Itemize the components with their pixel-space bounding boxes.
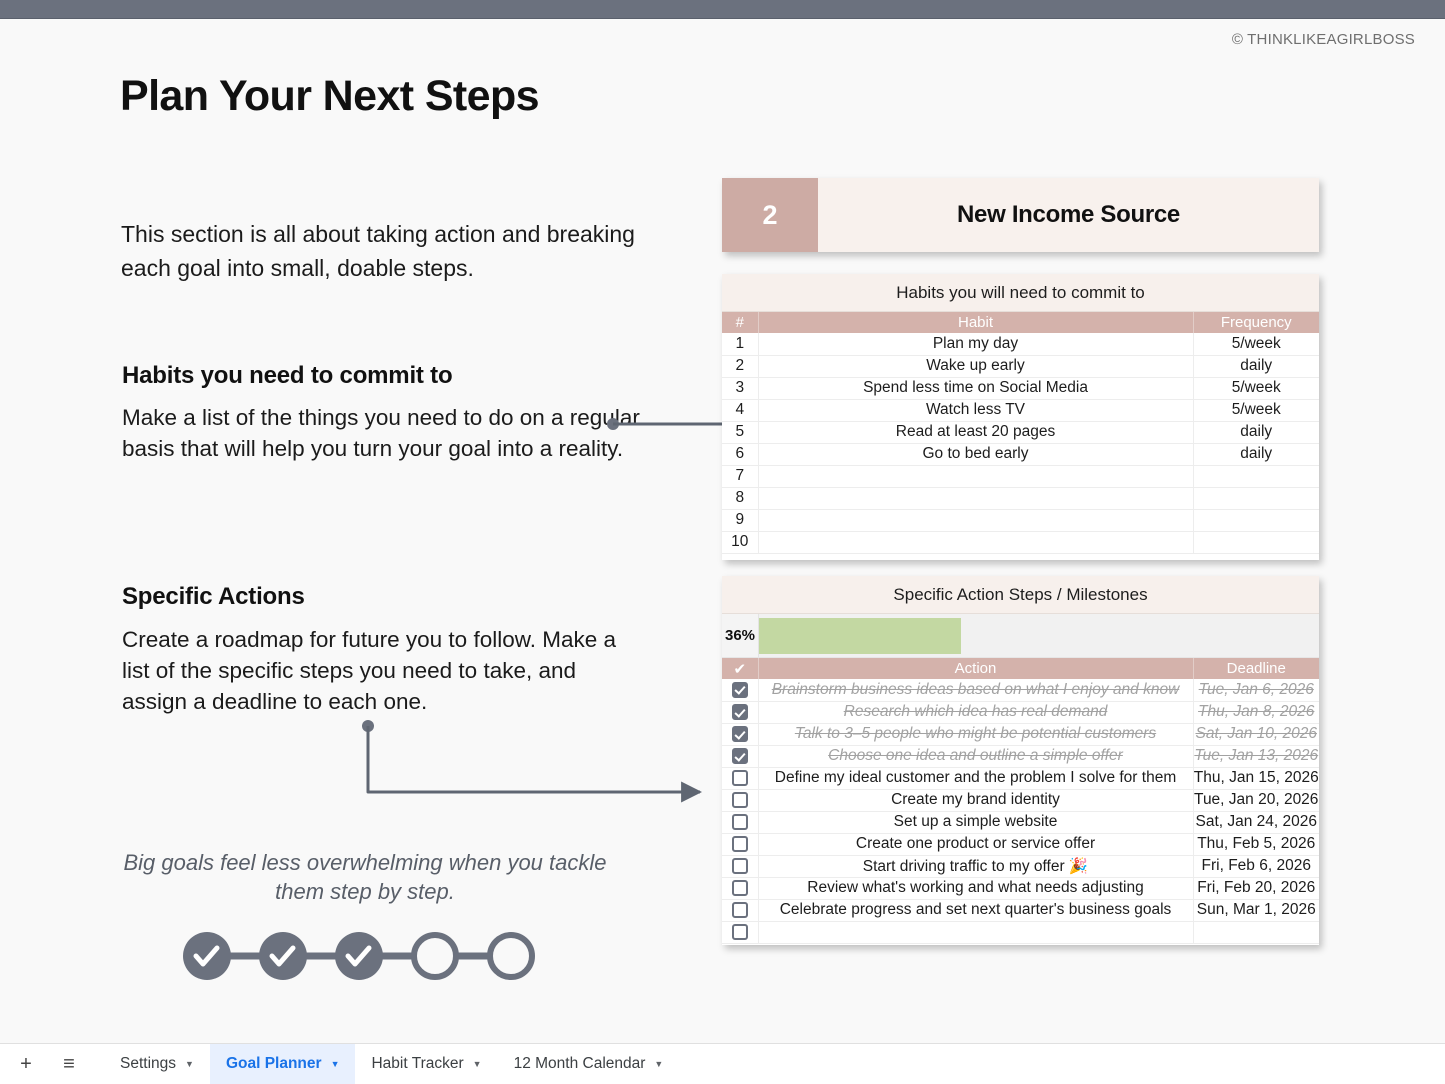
all-sheets-menu-icon[interactable]: ≡ [52, 1047, 86, 1081]
action-checkbox-cell[interactable] [722, 877, 758, 899]
habits-col-number[interactable]: # [722, 312, 758, 333]
actions-header-row: ✔ Action Deadline [722, 658, 1319, 679]
habits-col-habit[interactable]: Habit [758, 312, 1193, 333]
habit-frequency[interactable]: 5/week [1193, 399, 1319, 421]
action-row[interactable]: Start driving traffic to my offer 🎉Fri, … [722, 855, 1319, 877]
actions-panel: Specific Action Steps / Milestones 36% ✔… [722, 576, 1319, 945]
habits-header-row: # Habit Frequency [722, 312, 1319, 333]
habits-row[interactable]: 1Plan my day5/week [722, 333, 1319, 355]
habit-frequency[interactable]: 5/week [1193, 377, 1319, 399]
action-row[interactable]: Research which idea has real demandThu, … [722, 701, 1319, 723]
sheet-tab-label: Settings [120, 1055, 176, 1073]
intro-paragraph: This section is all about taking action … [121, 217, 666, 285]
sheet-tab-habit-tracker[interactable]: Habit Tracker▼ [355, 1044, 497, 1084]
action-text[interactable] [758, 921, 1193, 943]
progress-row: 36% [722, 614, 1319, 658]
action-deadline[interactable]: Tue, Jan 20, 2026 [1193, 789, 1319, 811]
action-checkbox[interactable] [732, 726, 748, 742]
action-deadline[interactable]: Tue, Jan 6, 2026 [1193, 679, 1319, 701]
sheet-tab-bar: + ≡ Settings▼Goal Planner▼Habit Tracker▼… [0, 1043, 1445, 1084]
habit-frequency[interactable] [1193, 509, 1319, 531]
stepper-node-2 [259, 932, 307, 980]
motivational-quote: Big goals feel less overwhelming when yo… [120, 848, 610, 906]
progress-fill [759, 618, 961, 654]
action-row[interactable]: Celebrate progress and set next quarter'… [722, 899, 1319, 921]
action-deadline[interactable]: Fri, Feb 6, 2026 [1193, 855, 1319, 877]
stepper-node-4 [414, 935, 456, 977]
action-row[interactable]: Choose one idea and outline a simple off… [722, 745, 1319, 767]
habit-frequency[interactable]: daily [1193, 443, 1319, 465]
goal-card: 2 New Income Source [722, 178, 1319, 252]
sheet-tab-settings[interactable]: Settings▼ [104, 1044, 210, 1084]
habits-row[interactable]: 8 [722, 487, 1319, 509]
sheet-tab-12-month-calendar[interactable]: 12 Month Calendar▼ [498, 1044, 680, 1084]
habits-row[interactable]: 9 [722, 509, 1319, 531]
habit-name[interactable]: Go to bed early [758, 443, 1193, 465]
habits-row[interactable]: 7 [722, 465, 1319, 487]
actions-col-deadline[interactable]: Deadline [1193, 658, 1319, 679]
page-title: Plan Your Next Steps [120, 72, 539, 121]
sheet-tab-goal-planner[interactable]: Goal Planner▼ [210, 1044, 356, 1084]
action-text[interactable]: Review what's working and what needs adj… [758, 877, 1193, 899]
section-heading-habits: Habits you need to commit to [122, 362, 452, 390]
progress-stepper [183, 928, 535, 984]
action-text[interactable]: Talk to 3–5 people who might be potentia… [758, 723, 1193, 745]
chevron-down-icon[interactable]: ▼ [473, 1059, 482, 1069]
habit-name[interactable]: Wake up early [758, 355, 1193, 377]
goal-number: 2 [722, 178, 818, 252]
habits-row[interactable]: 4Watch less TV5/week [722, 399, 1319, 421]
habit-frequency[interactable] [1193, 487, 1319, 509]
habits-row[interactable]: 3Spend less time on Social Media5/week [722, 377, 1319, 399]
action-checkbox-cell[interactable] [722, 745, 758, 767]
action-checkbox[interactable] [732, 858, 748, 874]
action-checkbox-cell[interactable] [722, 833, 758, 855]
action-text[interactable]: Choose one idea and outline a simple off… [758, 745, 1193, 767]
habits-band-title: Habits you will need to commit to [722, 274, 1319, 312]
actions-col-action[interactable]: Action [758, 658, 1193, 679]
action-row[interactable]: Create my brand identityTue, Jan 20, 202… [722, 789, 1319, 811]
action-checkbox[interactable] [732, 924, 748, 940]
action-checkbox-cell[interactable] [722, 899, 758, 921]
action-deadline[interactable]: Sun, Mar 1, 2026 [1193, 899, 1319, 921]
action-checkbox-cell[interactable] [722, 789, 758, 811]
action-checkbox-cell[interactable] [722, 679, 758, 701]
actions-table: ✔ Action Deadline Brainstorm business id… [722, 658, 1319, 944]
action-checkbox[interactable] [732, 682, 748, 698]
habit-index: 10 [722, 531, 758, 553]
habit-name[interactable] [758, 465, 1193, 487]
action-deadline[interactable]: Thu, Jan 8, 2026 [1193, 701, 1319, 723]
habit-name[interactable] [758, 531, 1193, 553]
habit-frequency[interactable]: daily [1193, 421, 1319, 443]
section-body-habits: Make a list of the things you need to do… [122, 402, 642, 464]
sheet-tab-label: 12 Month Calendar [514, 1055, 646, 1073]
stepper-node-1 [183, 932, 231, 980]
action-text[interactable]: Celebrate progress and set next quarter'… [758, 899, 1193, 921]
chevron-down-icon[interactable]: ▼ [331, 1059, 340, 1069]
progress-track [758, 614, 1319, 657]
arrow-actions [362, 720, 700, 792]
habit-name[interactable]: Watch less TV [758, 399, 1193, 421]
action-deadline[interactable]: Thu, Jan 15, 2026 [1193, 767, 1319, 789]
action-checkbox[interactable] [732, 814, 748, 830]
action-text[interactable]: Start driving traffic to my offer 🎉 [758, 855, 1193, 877]
sheet-tab-label: Goal Planner [226, 1055, 322, 1073]
habits-row[interactable]: 10 [722, 531, 1319, 553]
copyright-notice: © THINKLIKEAGIRLBOSS [1232, 31, 1415, 48]
add-sheet-icon[interactable]: + [9, 1047, 43, 1081]
habits-table: # Habit Frequency 1Plan my day5/week2Wak… [722, 312, 1319, 554]
action-checkbox[interactable] [732, 748, 748, 764]
actions-band-title: Specific Action Steps / Milestones [722, 576, 1319, 614]
action-text[interactable]: Research which idea has real demand [758, 701, 1193, 723]
habit-frequency[interactable]: daily [1193, 355, 1319, 377]
habit-name[interactable] [758, 509, 1193, 531]
action-checkbox[interactable] [732, 836, 748, 852]
actions-col-check[interactable]: ✔ [722, 658, 758, 679]
action-deadline[interactable]: Thu, Feb 5, 2026 [1193, 833, 1319, 855]
habit-index: 5 [722, 421, 758, 443]
action-checkbox-cell[interactable] [722, 855, 758, 877]
action-checkbox[interactable] [732, 704, 748, 720]
action-text[interactable]: Define my ideal customer and the problem… [758, 767, 1193, 789]
action-deadline[interactable]: Sat, Jan 10, 2026 [1193, 723, 1319, 745]
habit-index: 9 [722, 509, 758, 531]
action-row[interactable]: Create one product or service offerThu, … [722, 833, 1319, 855]
action-row[interactable]: Set up a simple websiteSat, Jan 24, 2026 [722, 811, 1319, 833]
action-checkbox[interactable] [732, 902, 748, 918]
action-row[interactable] [722, 921, 1319, 943]
stepper-node-5 [490, 935, 532, 977]
chevron-down-icon[interactable]: ▼ [654, 1059, 663, 1069]
section-body-actions: Create a roadmap for future you to follo… [122, 624, 642, 717]
action-checkbox[interactable] [732, 770, 748, 786]
habits-row[interactable]: 2Wake up earlydaily [722, 355, 1319, 377]
habit-frequency[interactable] [1193, 531, 1319, 553]
section-heading-actions: Specific Actions [122, 583, 305, 611]
habit-frequency[interactable] [1193, 465, 1319, 487]
action-checkbox-cell[interactable] [722, 921, 758, 943]
window-chrome-bar [0, 0, 1445, 19]
habits-row[interactable]: 6Go to bed earlydaily [722, 443, 1319, 465]
slide-page: © THINKLIKEAGIRLBOSS Plan Your Next Step… [0, 0, 1445, 1084]
habit-index: 6 [722, 443, 758, 465]
action-text[interactable]: Create my brand identity [758, 789, 1193, 811]
sheet-tab-label: Habit Tracker [371, 1055, 463, 1073]
action-row[interactable]: Talk to 3–5 people who might be potentia… [722, 723, 1319, 745]
action-checkbox[interactable] [732, 792, 748, 808]
habit-index: 8 [722, 487, 758, 509]
action-row[interactable]: Brainstorm business ideas based on what … [722, 679, 1319, 701]
action-checkbox-cell[interactable] [722, 701, 758, 723]
progress-percent-label: 36% [722, 614, 758, 657]
habit-index: 1 [722, 333, 758, 355]
habit-name[interactable]: Spend less time on Social Media [758, 377, 1193, 399]
action-row[interactable]: Review what's working and what needs adj… [722, 877, 1319, 899]
action-row[interactable]: Define my ideal customer and the problem… [722, 767, 1319, 789]
action-checkbox-cell[interactable] [722, 811, 758, 833]
habits-panel: Habits you will need to commit to # Habi… [722, 274, 1319, 560]
habit-frequency[interactable]: 5/week [1193, 333, 1319, 355]
action-deadline[interactable]: Fri, Feb 20, 2026 [1193, 877, 1319, 899]
chevron-down-icon[interactable]: ▼ [185, 1059, 194, 1069]
habit-index: 3 [722, 377, 758, 399]
habits-col-frequency[interactable]: Frequency [1193, 312, 1319, 333]
action-deadline[interactable]: Sat, Jan 24, 2026 [1193, 811, 1319, 833]
action-deadline[interactable]: Tue, Jan 13, 2026 [1193, 745, 1319, 767]
habit-index: 4 [722, 399, 758, 421]
action-checkbox-cell[interactable] [722, 767, 758, 789]
action-checkbox-cell[interactable] [722, 723, 758, 745]
action-text[interactable]: Set up a simple website [758, 811, 1193, 833]
action-text[interactable]: Create one product or service offer [758, 833, 1193, 855]
action-text[interactable]: Brainstorm business ideas based on what … [758, 679, 1193, 701]
habits-row[interactable]: 5Read at least 20 pagesdaily [722, 421, 1319, 443]
habit-name[interactable]: Read at least 20 pages [758, 421, 1193, 443]
goal-name: New Income Source [818, 178, 1319, 252]
action-deadline[interactable] [1193, 921, 1319, 943]
stepper-node-3 [335, 932, 383, 980]
action-checkbox[interactable] [732, 880, 748, 896]
habit-index: 7 [722, 465, 758, 487]
habit-name[interactable]: Plan my day [758, 333, 1193, 355]
habit-index: 2 [722, 355, 758, 377]
habit-name[interactable] [758, 487, 1193, 509]
